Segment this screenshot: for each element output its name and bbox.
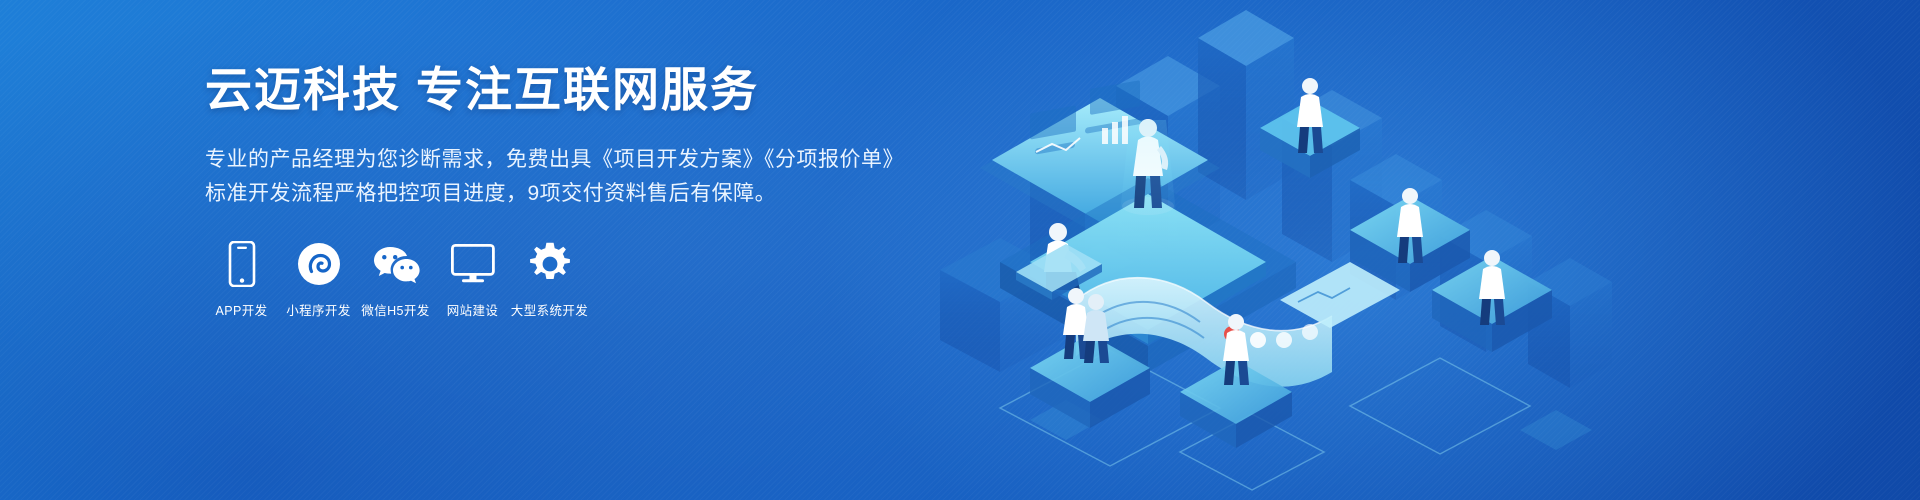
service-label: 微信H5开发 [361,300,429,319]
service-item-app[interactable]: APP开发 [205,241,278,319]
subtitle-line-1: 专业的产品经理为您诊断需求，免费出具《项目开发方案》《分项报价单》 [205,143,965,177]
service-label: APP开发 [215,300,267,319]
wechat-icon [372,241,420,287]
banner-copy: 云迈科技 专注互联网服务 专业的产品经理为您诊断需求，免费出具《项目开发方案》《… [205,62,965,319]
monitor-icon [451,241,495,287]
promo-banner: 云迈科技 专注互联网服务 专业的产品经理为您诊断需求，免费出具《项目开发方案》《… [0,0,1920,500]
service-item-large-system[interactable]: 大型系统开发 [513,241,586,319]
isometric-illustration [880,0,1920,500]
service-item-mini-program[interactable]: 小程序开发 [282,241,355,319]
service-list: APP开发 小程序开发 [205,241,965,319]
mini-program-icon [297,241,341,287]
service-label: 网站建设 [447,300,499,319]
service-item-wechat[interactable]: 微信H5开发 [359,241,432,319]
service-label: 小程序开发 [286,300,351,319]
service-label: 大型系统开发 [511,300,588,319]
banner-subtitle: 专业的产品经理为您诊断需求，免费出具《项目开发方案》《分项报价单》 标准开发流程… [205,143,965,211]
mobile-phone-icon [227,241,257,287]
banner-headline: 云迈科技 专注互联网服务 [205,62,965,117]
gear-icon [528,241,572,287]
subtitle-line-2: 标准开发流程严格把控项目进度，9项交付资料售后有保障。 [205,177,965,211]
service-item-website[interactable]: 网站建设 [436,241,509,319]
